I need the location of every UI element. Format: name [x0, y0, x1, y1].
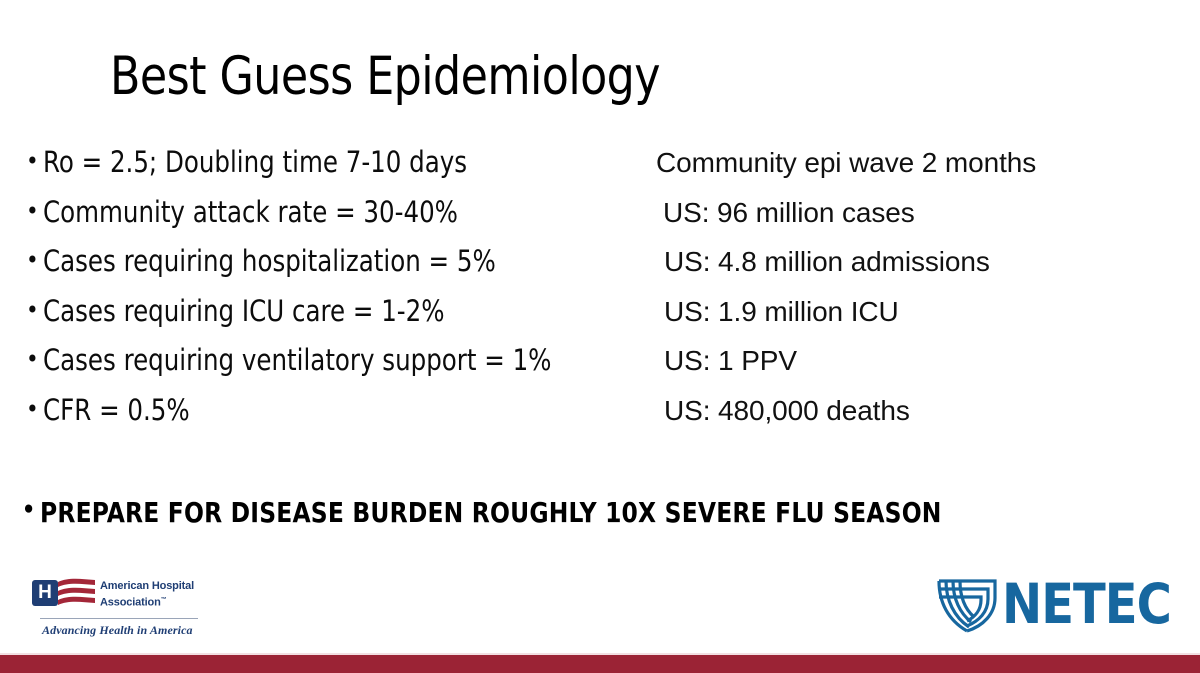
left-bullet-item-3: • Cases requiring hospitalization = 5%	[26, 244, 525, 279]
left-bullet-item-1: • Ro = 2.5; Doubling time 7-10 days	[26, 145, 494, 180]
left-bullet-item-4: • Cases requiring ICU care = 1-2%	[26, 294, 470, 329]
bullet-marker-icon: •	[26, 145, 43, 177]
trademark-icon: ™	[161, 597, 167, 603]
left-bullet-item-2: • Community attack rate = 30-40%	[26, 195, 484, 230]
bullet-marker-icon: •	[22, 496, 40, 526]
left-bullet-text: Community attack rate = 30-40%	[43, 195, 458, 230]
emphasis-bullet-item: • PREPARE FOR DISEASE BURDEN ROUGHLY 10X…	[22, 496, 1009, 530]
bullet-marker-icon: •	[26, 343, 43, 375]
bottom-accent-bar	[0, 655, 1200, 673]
netec-wordmark: NETEC	[1002, 575, 1171, 633]
page-title: Best Guess Epidemiology	[110, 48, 660, 105]
left-bullet-text: CFR = 0.5%	[43, 393, 190, 428]
slide-canvas: Best Guess Epidemiology • Ro = 2.5; Doub…	[0, 0, 1200, 673]
bullet-marker-icon: •	[26, 393, 43, 425]
right-value-1: Community epi wave 2 months	[656, 146, 1036, 180]
bullet-marker-icon: •	[26, 294, 43, 326]
bullet-marker-icon: •	[26, 244, 43, 276]
emphasis-text: PREPARE FOR DISEASE BURDEN ROUGHLY 10X S…	[40, 496, 942, 530]
left-bullet-text: Cases requiring ventilatory support = 1%	[43, 343, 551, 378]
aha-mark-icon: H	[32, 578, 96, 614]
aha-divider	[40, 618, 198, 619]
flag-stripes-icon	[58, 578, 96, 614]
aha-name-line2: Association	[100, 596, 161, 608]
right-value-5: US: 1 PPV	[664, 344, 797, 378]
bullet-row: • Cases requiring ventilatory support = …	[0, 343, 1200, 393]
right-value-6: US: 480,000 deaths	[664, 394, 910, 428]
bullet-row: • CFR = 0.5% US: 480,000 deaths	[0, 393, 1200, 443]
bullet-row: • Cases requiring ICU care = 1-2% US: 1.…	[0, 294, 1200, 344]
bullet-row: • Community attack rate = 30-40% US: 96 …	[0, 195, 1200, 245]
netec-logo: NETEC	[936, 574, 1182, 636]
left-bullet-item-6: • CFR = 0.5%	[26, 393, 199, 428]
left-bullet-text: Ro = 2.5; Doubling time 7-10 days	[43, 145, 467, 180]
left-bullet-text: Cases requiring ICU care = 1-2%	[43, 294, 445, 329]
aha-tagline: Advancing Health in America	[42, 622, 193, 638]
left-bullet-item-5: • Cases requiring ventilatory support = …	[26, 343, 584, 378]
content-columns: • Ro = 2.5; Doubling time 7-10 days Comm…	[0, 145, 1200, 442]
right-value-4: US: 1.9 million ICU	[664, 295, 899, 329]
right-value-2: US: 96 million cases	[663, 196, 915, 230]
aha-name-line1: American Hospital	[100, 580, 194, 592]
bullet-row: • Cases requiring hospitalization = 5% U…	[0, 244, 1200, 294]
bullet-row: • Ro = 2.5; Doubling time 7-10 days Comm…	[0, 145, 1200, 195]
netec-shield-icon	[936, 576, 998, 634]
bullet-marker-icon: •	[26, 195, 43, 227]
right-value-3: US: 4.8 million admissions	[664, 245, 990, 279]
aha-logo: H American Hospital Association™ Advanci…	[32, 576, 212, 640]
left-bullet-text: Cases requiring hospitalization = 5%	[43, 244, 496, 279]
aha-name-text: American Hospital Association™	[100, 580, 194, 610]
hospital-h-icon: H	[32, 580, 58, 606]
